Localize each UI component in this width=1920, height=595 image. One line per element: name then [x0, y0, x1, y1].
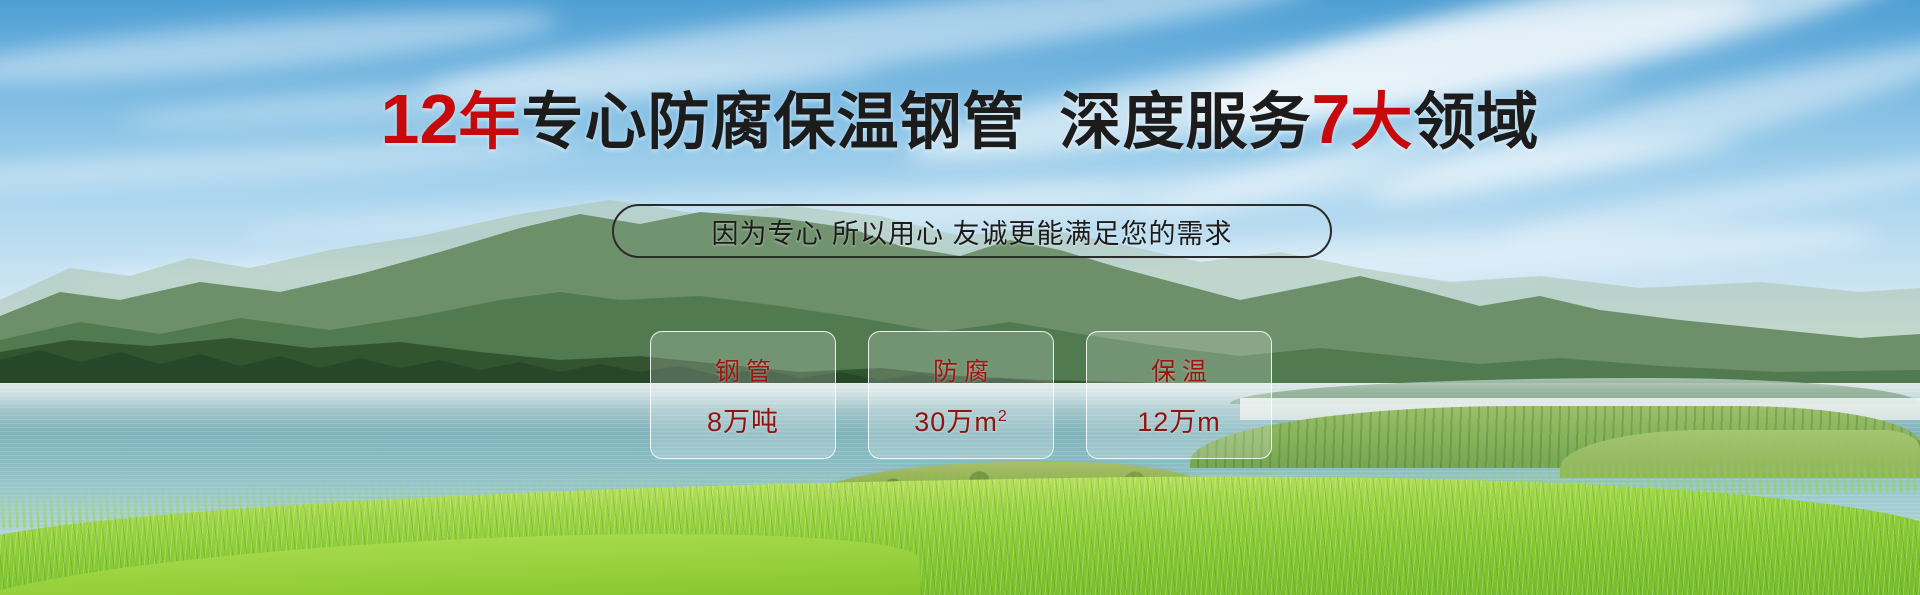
hero-banner: 12年专心防腐保温钢管深度服务7大领域 因为专心 所以用心 友诚更能满足您的需求… [0, 0, 1920, 595]
headline-years-unit: 年 [458, 88, 521, 157]
stat-card-value-text: 12万m [1137, 407, 1221, 437]
headline-fields-number: 7 [1311, 80, 1350, 158]
headline-fields-unit: 大 [1350, 88, 1413, 157]
headline-text-main: 专心防腐保温钢管 [521, 88, 1025, 157]
stat-card-label: 钢管 [709, 352, 777, 388]
stat-card-value-superscript: 2 [998, 408, 1008, 425]
stat-card-label: 保温 [1145, 352, 1213, 388]
stat-card-anticorrosion[interactable]: 防腐 30万m2 [868, 331, 1054, 459]
stat-card-steel-pipe[interactable]: 钢管 8万吨 [650, 331, 836, 459]
stat-card-value-text: 30万m [914, 407, 998, 437]
subtitle-text: 因为专心 所以用心 友诚更能满足您的需求 [711, 212, 1232, 251]
stat-card-value: 30万m2 [914, 400, 1007, 439]
stat-card-value: 12万m [1137, 400, 1221, 439]
subtitle-pill: 因为专心 所以用心 友诚更能满足您的需求 [612, 204, 1332, 258]
headline-years-number: 12 [381, 80, 459, 158]
stat-card-group: 钢管 8万吨 防腐 30万m2 保温 12万m [650, 331, 1272, 459]
stat-card-value-text: 8万吨 [707, 407, 779, 437]
banner-headline: 12年专心防腐保温钢管深度服务7大领域 [0, 84, 1920, 154]
stat-card-label: 防腐 [927, 352, 995, 388]
headline-text-service: 深度服务 [1059, 88, 1311, 157]
stat-card-value: 8万吨 [707, 400, 779, 439]
headline-text-fields: 领域 [1413, 88, 1539, 157]
stat-card-insulation[interactable]: 保温 12万m [1086, 331, 1272, 459]
